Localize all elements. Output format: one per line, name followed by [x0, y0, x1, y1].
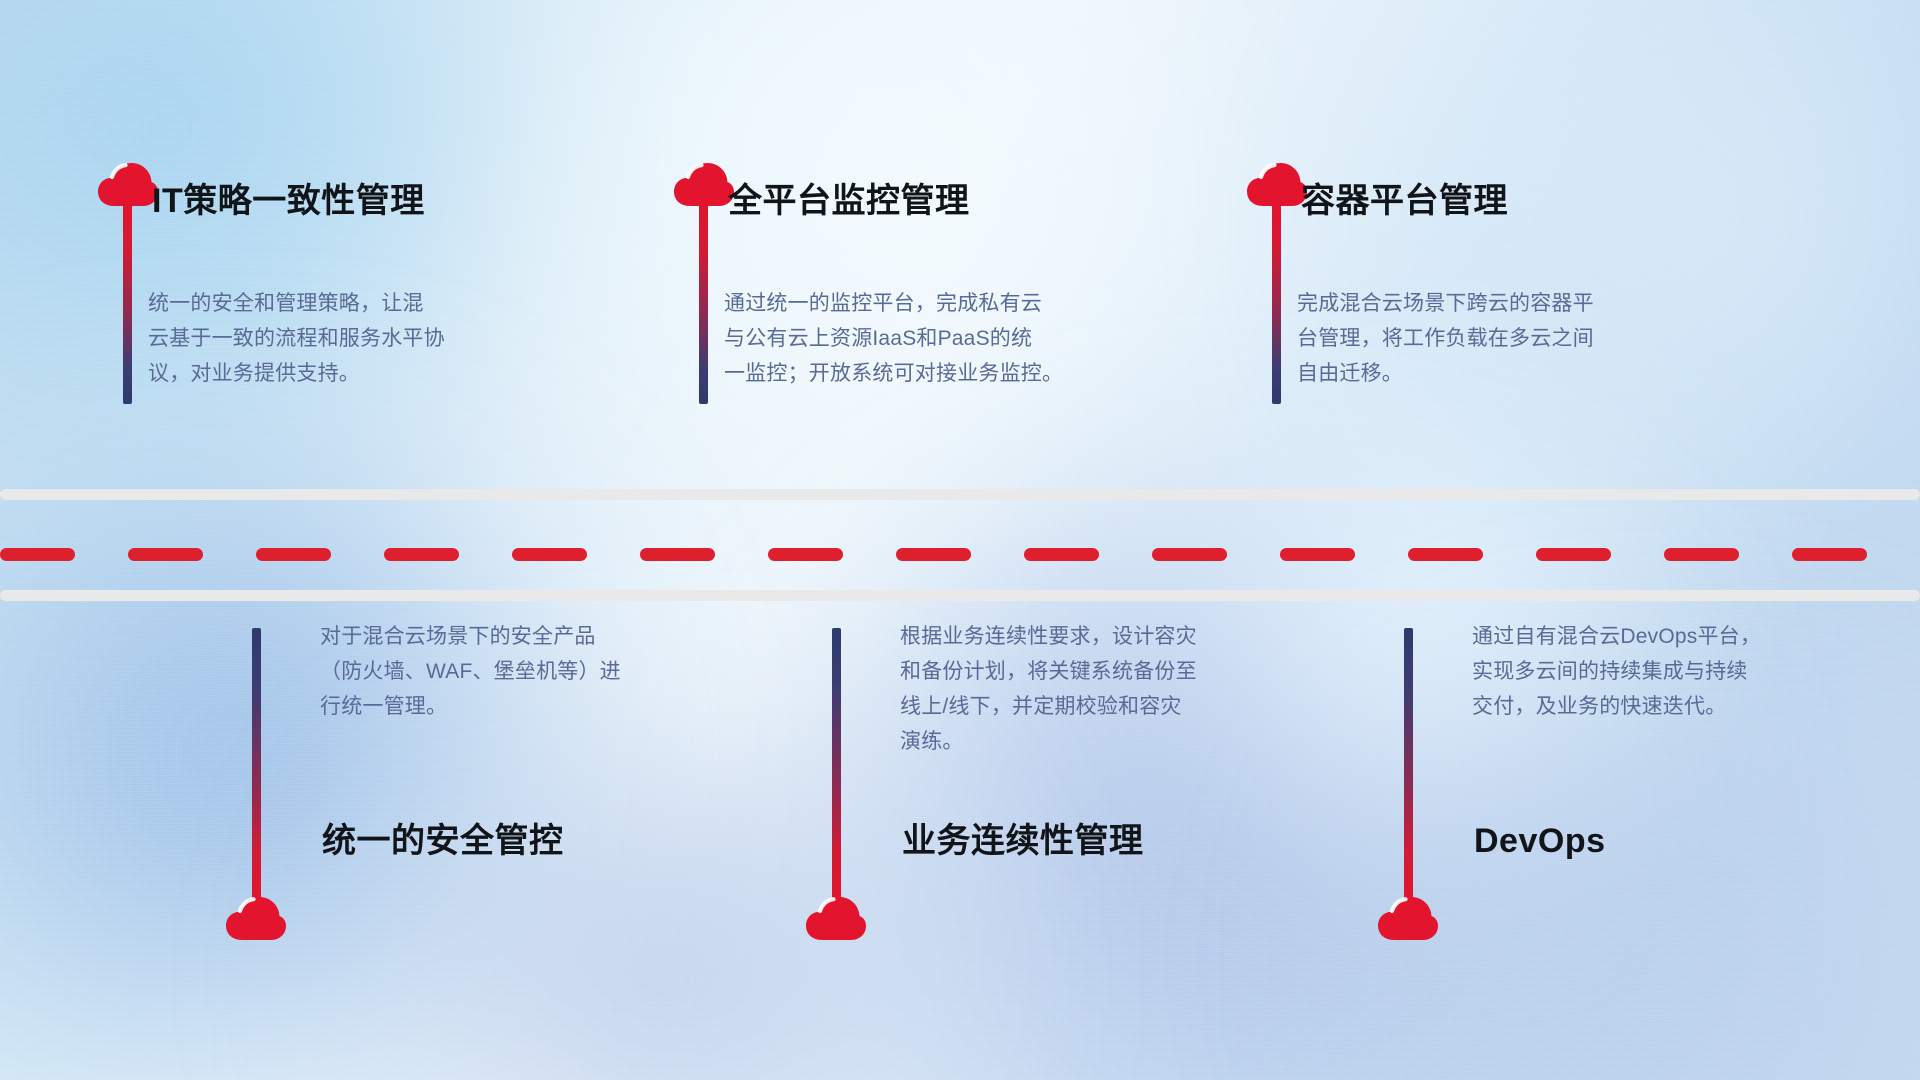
connector-line [123, 204, 132, 404]
item-heading: DevOps [1474, 824, 1606, 858]
item-heading: 全平台监控管理 [728, 184, 970, 218]
road-dash-segment [1664, 548, 1739, 561]
item-heading: 业务连续性管理 [902, 824, 1144, 858]
road-edge-top [0, 489, 1920, 500]
road-dash-segment [1536, 548, 1611, 561]
road-dash-segment [1280, 548, 1355, 561]
item-description: 通过统一的监控平台，完成私有云 与公有云上资源IaaS和PaaS的统 一监控；开… [724, 287, 1104, 392]
connector-line [252, 628, 261, 900]
road-dash-segment [640, 548, 715, 561]
cloud-icon [1376, 894, 1440, 942]
cloud-icon [96, 160, 160, 208]
item-description: 对于混合云场景下的安全产品 （防火墙、WAF、堡垒机等）进 行统一管理。 [320, 620, 720, 725]
item-heading: IT策略一致性管理 [152, 184, 425, 218]
road-edge-bottom [0, 590, 1920, 601]
road-dash-segment [256, 548, 331, 561]
item-description: 通过自有混合云DevOps平台， 实现多云间的持续集成与持续 交付，及业务的快速… [1472, 620, 1872, 725]
road-dash-segment [1408, 548, 1483, 561]
connector-line [699, 204, 708, 404]
road-dash-segment [1152, 548, 1227, 561]
road-dash-segment [384, 548, 459, 561]
item-heading: 统一的安全管控 [322, 824, 564, 858]
road-dash-segment [0, 548, 75, 561]
connector-line [832, 628, 841, 900]
road-dashed-centerline [0, 548, 1920, 561]
item-description: 统一的安全和管理策略，让混 云基于一致的流程和服务水平协 议，对业务提供支持。 [148, 287, 508, 392]
cloud-icon [672, 160, 736, 208]
road-dash-segment [1024, 548, 1099, 561]
cloud-icon [1245, 160, 1309, 208]
road-dash-segment [128, 548, 203, 561]
item-heading: 容器平台管理 [1301, 184, 1508, 218]
road-dash-segment [1792, 548, 1867, 561]
connector-line [1404, 628, 1413, 900]
item-description: 根据业务连续性要求，设计容灾 和备份计划，将关键系统备份至 线上/线下，并定期校… [900, 620, 1310, 759]
cloud-icon [224, 894, 288, 942]
road-dash-segment [768, 548, 843, 561]
infographic-stage: IT策略一致性管理 统一的安全和管理策略，让混 云基于一致的流程和服务水平协 议… [0, 0, 1920, 1080]
connector-line [1272, 204, 1281, 404]
cloud-icon [804, 894, 868, 942]
road-dash-segment [896, 548, 971, 561]
road-dash-segment [512, 548, 587, 561]
item-description: 完成混合云场景下跨云的容器平 台管理，将工作负载在多云之间 自由迁移。 [1297, 287, 1677, 392]
